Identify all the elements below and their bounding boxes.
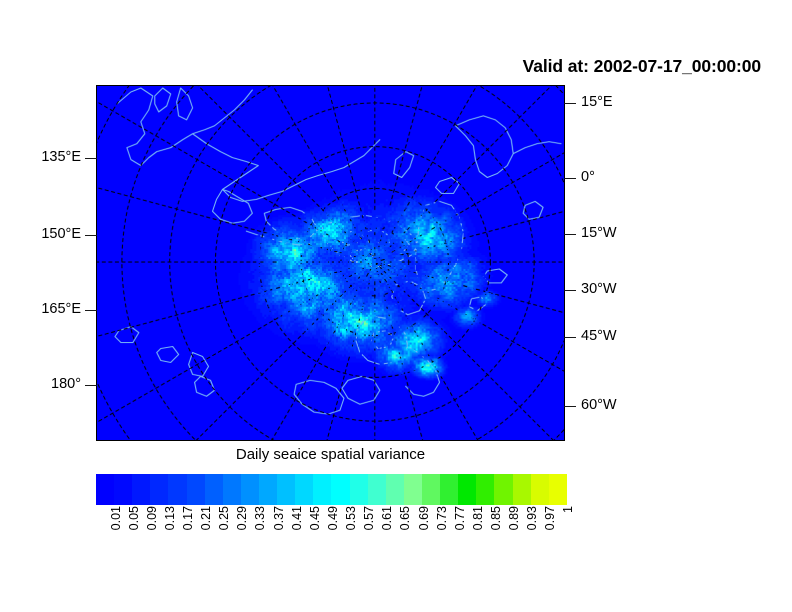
axis-tick-left-2 — [85, 310, 97, 311]
colorbar-label-13: 0.53 — [345, 506, 358, 530]
colorbar-swatch-19 — [440, 474, 458, 505]
colorbar-swatch-0 — [96, 474, 114, 505]
colorbar-label-0: 0.01 — [110, 506, 123, 530]
colorbar-swatch-17 — [404, 474, 422, 505]
axis-tick-right-3 — [564, 290, 576, 291]
colorbar-label-17: 0.69 — [418, 506, 431, 530]
colorbar-label-20: 0.81 — [472, 506, 485, 530]
axis-tick-right-1 — [564, 178, 576, 179]
colorbar-swatch-13 — [331, 474, 349, 505]
colorbar-label-1: 0.05 — [128, 506, 141, 530]
figure-root: Valid at: 2002-07-17_00:00:00 Daily seai… — [0, 0, 792, 612]
colorbar-swatch-9 — [259, 474, 277, 505]
colorbar-swatch-4 — [168, 474, 186, 505]
axis-label-right-5: 60°W — [581, 398, 617, 413]
colorbar-label-19: 0.77 — [454, 506, 467, 530]
axis-label-left-0: 135°E — [41, 150, 81, 165]
colorbar-label-21: 0.85 — [490, 506, 503, 530]
colorbar-swatch-7 — [223, 474, 241, 505]
colorbar-swatch-23 — [513, 474, 531, 505]
colorbar-label-14: 0.57 — [363, 506, 376, 530]
colorbar-swatch-10 — [277, 474, 295, 505]
colorbar-swatch-21 — [476, 474, 494, 505]
colorbar-swatch-1 — [114, 474, 132, 505]
colorbar-swatch-12 — [313, 474, 331, 505]
colorbar-label-4: 0.17 — [182, 506, 195, 530]
axis-label-left-3: 180° — [51, 377, 81, 392]
axis-label-right-3: 30°W — [581, 282, 617, 297]
axis-tick-right-2 — [564, 234, 576, 235]
colorbar-label-7: 0.29 — [236, 506, 249, 530]
colorbar-swatch-5 — [187, 474, 205, 505]
axis-label-right-0: 15°E — [581, 95, 613, 110]
colorbar-label-23: 0.93 — [526, 506, 539, 530]
colorbar-swatch-15 — [368, 474, 386, 505]
colorbar-label-25: 1 — [562, 506, 575, 513]
axis-tick-right-0 — [564, 103, 576, 104]
colorbar-swatch-14 — [350, 474, 368, 505]
colorbar-label-15: 0.61 — [381, 506, 394, 530]
colorbar-swatch-20 — [458, 474, 476, 505]
colorbar[interactable] — [96, 474, 567, 505]
axis-tick-right-4 — [564, 337, 576, 338]
axis-tick-left-0 — [85, 158, 97, 159]
colorbar-swatch-8 — [241, 474, 259, 505]
colorbar-swatch-24 — [531, 474, 549, 505]
axis-label-right-4: 45°W — [581, 329, 617, 344]
colorbar-label-8: 0.33 — [254, 506, 267, 530]
axis-tick-left-1 — [85, 235, 97, 236]
colorbar-swatch-3 — [150, 474, 168, 505]
colorbar-label-16: 0.65 — [399, 506, 412, 530]
axis-label-left-1: 150°E — [41, 227, 81, 242]
colorbar-label-22: 0.89 — [508, 506, 521, 530]
map-plot-panel[interactable] — [96, 85, 565, 441]
colorbar-swatch-11 — [295, 474, 313, 505]
colorbar-swatch-2 — [132, 474, 150, 505]
colorbar-label-11: 0.45 — [309, 506, 322, 530]
axis-label-right-2: 15°W — [581, 226, 617, 241]
colorbar-label-10: 0.41 — [291, 506, 304, 530]
colorbar-label-6: 0.25 — [218, 506, 231, 530]
page-title: Valid at: 2002-07-17_00:00:00 — [523, 56, 761, 77]
colorbar-label-12: 0.49 — [327, 506, 340, 530]
colorbar-swatch-16 — [386, 474, 404, 505]
colorbar-label-3: 0.13 — [164, 506, 177, 530]
colorbar-label-24: 0.97 — [544, 506, 557, 530]
colorbar-swatch-25 — [549, 474, 567, 505]
colorbar-swatch-18 — [422, 474, 440, 505]
sea-ice-variance-map — [97, 86, 564, 440]
axis-tick-left-3 — [85, 385, 97, 386]
colorbar-gradient — [96, 474, 567, 505]
axis-label-left-2: 165°E — [41, 302, 81, 317]
colorbar-label-5: 0.21 — [200, 506, 213, 530]
colorbar-label-9: 0.37 — [273, 506, 286, 530]
colorbar-label-18: 0.73 — [436, 506, 449, 530]
colorbar-swatch-22 — [494, 474, 512, 505]
axis-label-right-1: 0° — [581, 170, 595, 185]
colorbar-label-2: 0.09 — [146, 506, 159, 530]
colorbar-tick-labels: 0.010.050.090.130.170.210.250.290.330.37… — [96, 506, 567, 566]
plot-caption: Daily seaice spatial variance — [96, 446, 565, 463]
colorbar-swatch-6 — [205, 474, 223, 505]
axis-tick-right-5 — [564, 406, 576, 407]
